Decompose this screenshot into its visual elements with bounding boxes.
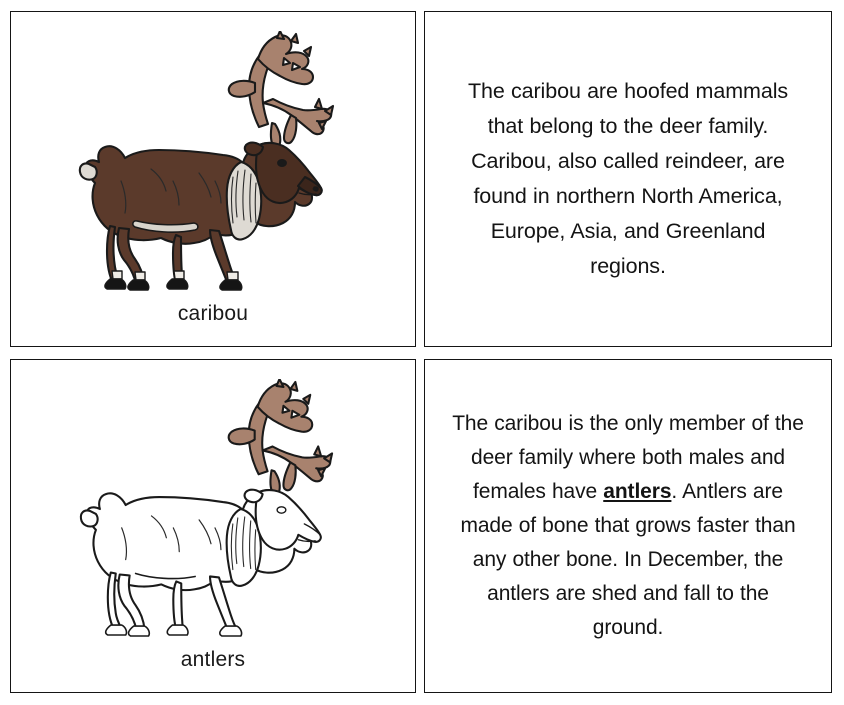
text-card-caribou[interactable]: The caribou are hoofed mammals that belo… [424, 11, 832, 347]
caribou-eye-outline [277, 506, 286, 512]
hooves [105, 279, 242, 290]
caribou-nostril [313, 186, 318, 190]
text-card-inner: The caribou is the only member of the de… [425, 360, 831, 692]
picture-card-inner: antlers [11, 360, 415, 692]
caribou-tail [80, 163, 97, 179]
picture-card-antlers[interactable]: antlers [10, 359, 416, 693]
hooves-outline [106, 625, 242, 636]
keyword-antlers: antlers [603, 480, 671, 503]
caribou-color-illustration [11, 12, 415, 303]
caribou-leg-front-near-outline [210, 576, 237, 630]
text-card-paragraph-antlers: The caribou is the only member of the de… [451, 407, 805, 645]
picture-card-caribou[interactable]: caribou [10, 11, 416, 347]
caribou-tail-outline [81, 510, 98, 526]
caribou-eye [278, 159, 287, 166]
picture-card-label-antlers: antlers [11, 649, 415, 692]
caribou-outline-svg [63, 379, 363, 637]
picture-card-inner: caribou [11, 12, 415, 346]
text-card-antlers[interactable]: The caribou is the only member of the de… [424, 359, 832, 693]
caribou-color-svg [63, 31, 363, 291]
text-card-paragraph-caribou: The caribou are hoofed mammals that belo… [451, 74, 805, 284]
caribou-ear [245, 142, 263, 155]
paragraph-segment-after: . Antlers are made of bone that grows fa… [460, 480, 795, 639]
nomenclature-card-sheet: caribou The caribou are hoofed mammals t… [0, 0, 844, 705]
text-card-inner: The caribou are hoofed mammals that belo… [425, 12, 831, 346]
antlers-shape [229, 31, 333, 147]
antlers-shape-highlighted [229, 379, 332, 494]
caribou-ear-outline [245, 489, 263, 502]
picture-card-label-caribou: caribou [11, 303, 415, 346]
caribou-line-art-antlers-highlighted [11, 360, 415, 649]
